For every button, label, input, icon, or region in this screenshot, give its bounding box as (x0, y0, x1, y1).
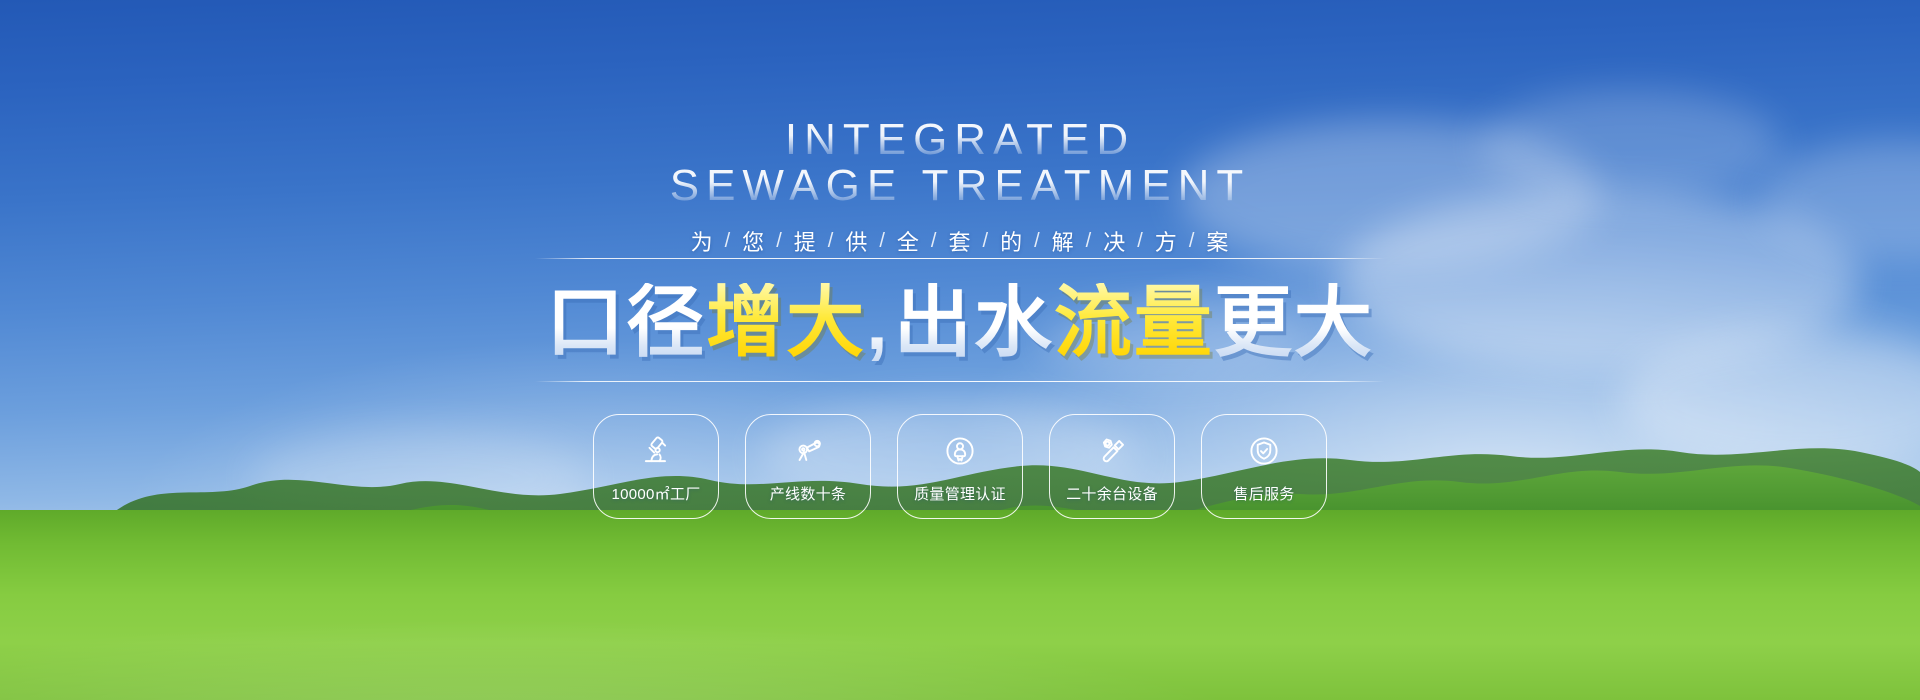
feature-badge-label: 产线数十条 (770, 483, 847, 504)
medal-person-icon (940, 431, 980, 471)
bolt-nut-icon (1092, 431, 1132, 471)
page-title: 口径增大,出水流量更大 (0, 283, 1920, 361)
headline-segment: 口径 (546, 283, 706, 361)
shield-check-icon (1244, 431, 1284, 471)
subtitle-character: 解 (1041, 225, 1086, 257)
headline-segment: 出水 (894, 283, 1054, 361)
feature-badge-label: 10000㎡工厂 (611, 483, 700, 504)
english-heading: INTEGRATED SEWAGE TREATMENT (0, 118, 1920, 208)
feature-badge[interactable]: 售后服务 (1201, 414, 1327, 519)
subtitle-character: 提 (783, 225, 828, 257)
headline-segment: 流量 (1054, 283, 1214, 361)
feature-badge[interactable]: 二十余台设备 (1049, 414, 1175, 519)
feature-badge[interactable]: 产线数十条 (745, 414, 871, 519)
feature-badge[interactable]: 质量管理认证 (897, 414, 1023, 519)
divider-bottom (535, 381, 1385, 382)
subtitle-character: 套 (937, 225, 982, 257)
microscope-icon (636, 431, 676, 471)
feature-badge-label: 二十余台设备 (1066, 483, 1158, 504)
hero-banner: INTEGRATED SEWAGE TREATMENT 为/您/提/供/全/套/… (0, 0, 1920, 700)
telescope-icon (788, 431, 828, 471)
headline-segment: 更大 (1214, 283, 1374, 361)
subtitle-character: 决 (1092, 225, 1137, 257)
subtitle-character: 您 (731, 225, 776, 257)
subtitle-row: 为/您/提/供/全/套/的/解/决/方/案 (0, 225, 1920, 257)
divider-top (535, 258, 1385, 259)
subtitle-character: 案 (1195, 225, 1240, 257)
subtitle-character: 的 (989, 225, 1034, 257)
subtitle-character: 供 (834, 225, 879, 257)
subtitle-character: 全 (886, 225, 931, 257)
headline-segment: , (866, 283, 894, 361)
subtitle-characters: 为/您/提/供/全/套/的/解/决/方/案 (680, 225, 1241, 257)
feature-badge[interactable]: 10000㎡工厂 (593, 414, 719, 519)
feature-badge-label: 售后服务 (1233, 483, 1294, 504)
banner-content: INTEGRATED SEWAGE TREATMENT 为/您/提/供/全/套/… (0, 0, 1920, 700)
english-heading-line1: INTEGRATED (0, 118, 1920, 162)
feature-badge-list: 10000㎡工厂产线数十条质量管理认证二十余台设备售后服务 (0, 414, 1920, 519)
headline-segment: 增大 (706, 283, 866, 361)
feature-badge-label: 质量管理认证 (914, 483, 1006, 504)
subtitle-character: 为 (680, 225, 725, 257)
english-heading-line2: SEWAGE TREATMENT (0, 164, 1920, 208)
subtitle-character: 方 (1144, 225, 1189, 257)
